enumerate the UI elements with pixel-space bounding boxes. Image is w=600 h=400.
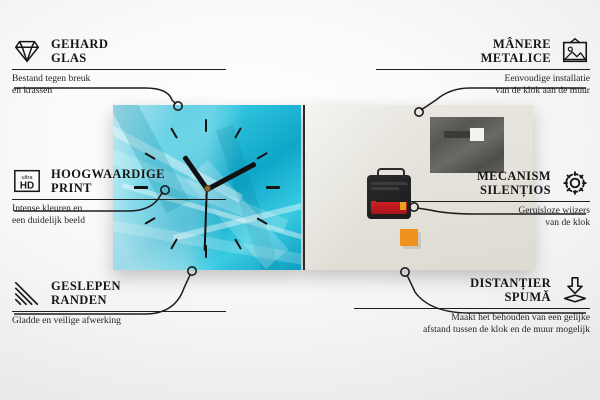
foam-spacer	[400, 229, 418, 246]
clock-mark	[256, 152, 268, 160]
feature-manere-metalice: MÂNERE METALICE Eenvoudige installatie v…	[376, 36, 590, 97]
feature-title: HOOGWAARDIGE PRINT	[51, 167, 165, 196]
feature-title: DISTANȚIER SPUMĂ	[470, 276, 551, 305]
gear-icon	[560, 168, 590, 198]
feature-title: MÂNERE METALICE	[481, 37, 551, 66]
divider	[12, 69, 226, 70]
feature-subtitle: Intense kleuren en een duidelijk beeld	[12, 203, 226, 227]
clock-mark	[234, 127, 242, 139]
hanger-slot-highlight	[470, 128, 484, 141]
feature-subtitle: Gladde en veilige afwerking	[12, 315, 226, 327]
svg-text:HD: HD	[20, 181, 34, 192]
feature-hoogwaardige-print: ultra HD HOOGWAARDIGE PRINT Intense kleu…	[12, 166, 226, 227]
feature-mecanism-silentios: MECANISM SILENȚIOS Geruisloze wijzers va…	[376, 168, 590, 229]
feature-subtitle: Geruisloze wijzers van de klok	[376, 205, 590, 229]
divider	[354, 308, 590, 309]
infographic-canvas: GEHARD GLAS Bestand tegen breuk en krass…	[0, 0, 600, 400]
feature-gehard-glas: GEHARD GLAS Bestand tegen breuk en krass…	[12, 36, 226, 97]
picture-frame-icon	[560, 36, 590, 66]
feature-subtitle: Bestand tegen breuk en krassen	[12, 73, 226, 97]
feature-subtitle: Maakt het behouden van een gelijke afsta…	[354, 312, 590, 336]
diamond-icon	[12, 36, 42, 66]
divider	[376, 201, 590, 202]
metal-hanger-plate	[430, 117, 504, 173]
feature-distantier-spuma: DISTANȚIER SPUMĂ Maakt het behouden van …	[354, 275, 590, 336]
divider	[376, 69, 590, 70]
divider	[12, 311, 226, 312]
ultra-hd-icon: ultra HD	[12, 166, 42, 196]
clock-mark	[266, 186, 280, 189]
feature-title: GESLEPEN RANDEN	[51, 279, 121, 308]
feature-title: GEHARD GLAS	[51, 37, 108, 66]
beveled-edge-icon	[12, 278, 42, 308]
feature-geslepen-randen: GESLEPEN RANDEN Gladde en veilige afwerk…	[12, 278, 226, 327]
feature-subtitle: Eenvoudige installatie van de klok aan d…	[376, 73, 590, 97]
divider	[12, 199, 226, 200]
spacer-arrow-icon	[560, 275, 590, 305]
clock-mark	[205, 119, 207, 132]
feature-title: MECANISM SILENȚIOS	[477, 169, 551, 198]
clock-mark	[170, 127, 178, 139]
